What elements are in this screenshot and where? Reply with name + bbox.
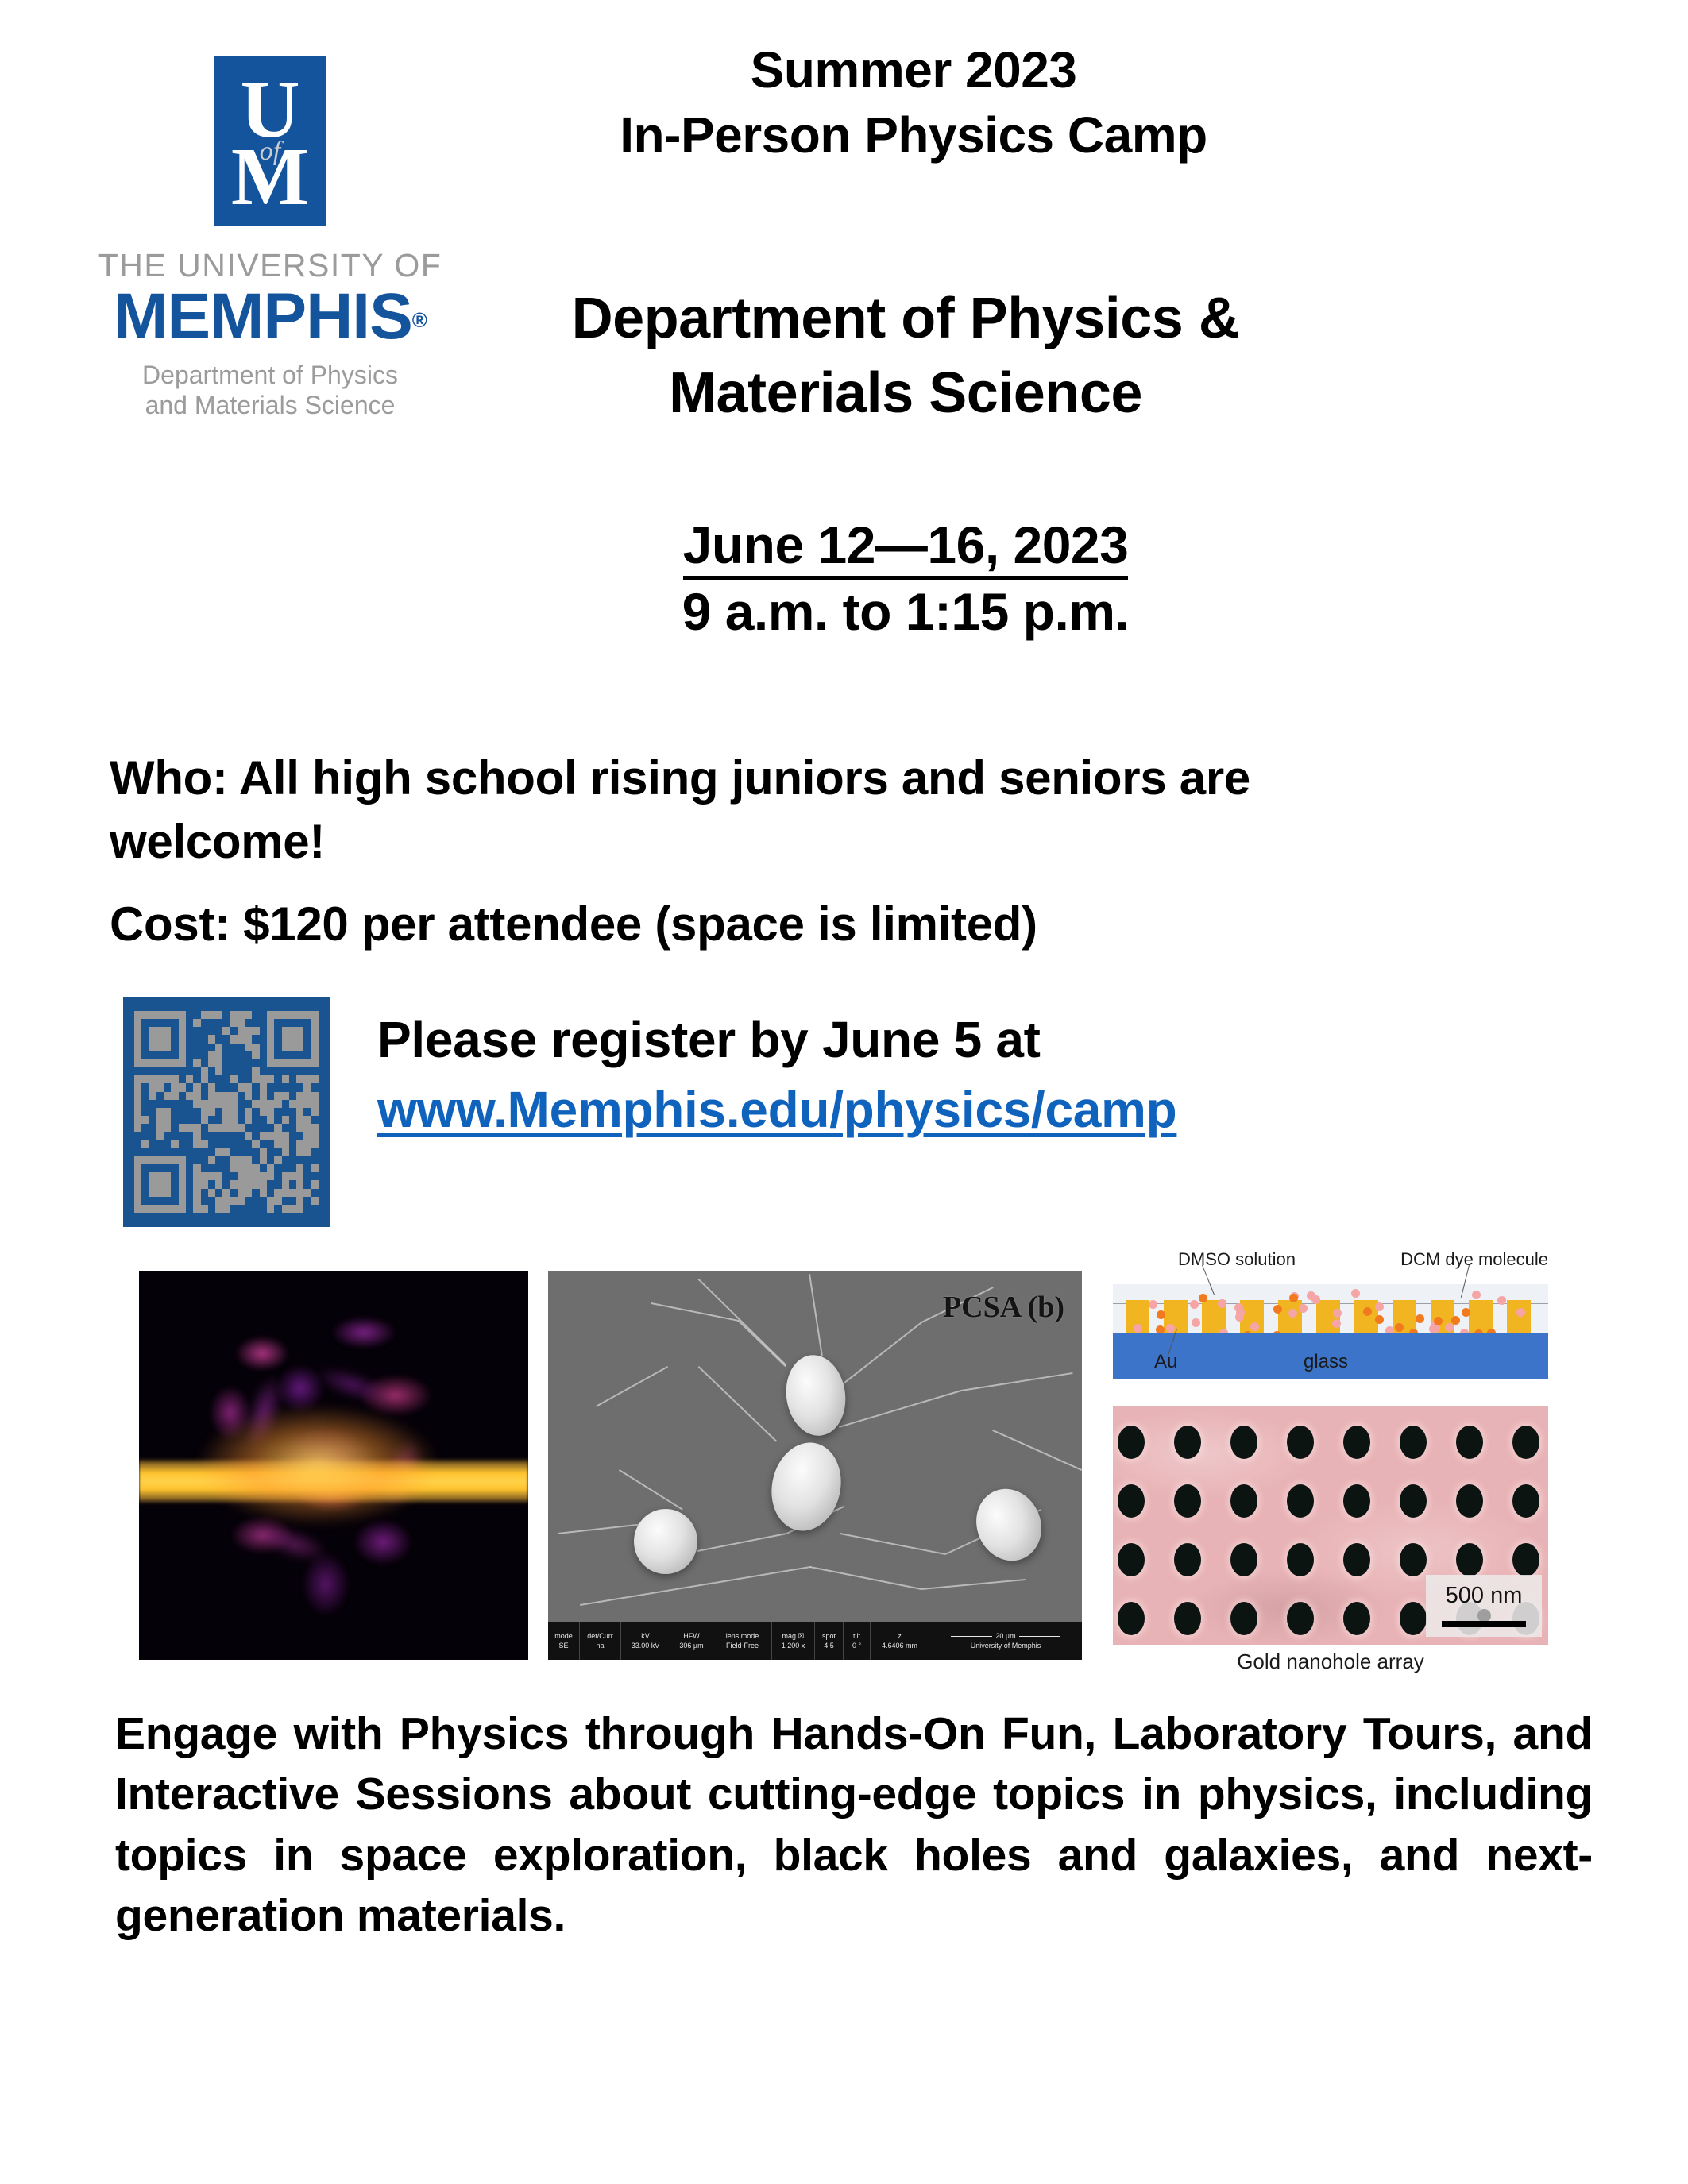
sem-info-value: 0 ° <box>852 1641 861 1650</box>
qr-module <box>260 1172 267 1180</box>
qr-module <box>260 1092 267 1100</box>
qr-module <box>282 1108 289 1116</box>
registration-url-link[interactable]: www.Memphis.edu/physics/camp <box>377 1075 1176 1144</box>
qr-module <box>164 1083 171 1091</box>
qr-module <box>296 1116 303 1124</box>
qr-module <box>267 1172 274 1180</box>
qr-module <box>238 1189 245 1197</box>
qr-module <box>296 1011 303 1019</box>
qr-module <box>289 1124 296 1132</box>
qr-module <box>238 1172 245 1180</box>
qr-module <box>179 1083 186 1091</box>
qr-module <box>230 1011 238 1019</box>
qr-module <box>156 1180 164 1188</box>
qr-module <box>171 1156 178 1164</box>
qr-module <box>193 1180 200 1188</box>
qr-module <box>186 1011 193 1019</box>
qr-module <box>222 1156 230 1164</box>
qr-module <box>274 1189 281 1197</box>
qr-module <box>267 1044 274 1051</box>
qr-module <box>267 1148 274 1156</box>
nanohole <box>1400 1484 1427 1518</box>
qr-module <box>282 1100 289 1108</box>
nanohole <box>1343 1602 1370 1635</box>
qr-module <box>141 1189 149 1197</box>
sem-info-value: 4.5 <box>824 1641 834 1650</box>
qr-module <box>215 1075 222 1083</box>
nanohole <box>1230 1602 1257 1635</box>
sem-info-header: mag ☒ <box>782 1631 804 1641</box>
qr-module <box>252 1124 259 1132</box>
qr-module <box>156 1108 164 1116</box>
gold-block <box>1507 1300 1531 1335</box>
qr-module <box>208 1011 215 1019</box>
qr-module <box>260 1035 267 1043</box>
qr-module <box>245 1092 252 1100</box>
qr-module <box>267 1100 274 1108</box>
qr-module <box>156 1172 164 1180</box>
date-range: June 12—16, 2023 <box>445 512 1366 579</box>
dye-molecule-dot <box>1472 1291 1481 1299</box>
qr-module <box>179 1197 186 1205</box>
qr-module <box>289 1189 296 1197</box>
qr-module <box>208 1148 215 1156</box>
qr-module <box>171 1092 178 1100</box>
nanohole <box>1118 1484 1145 1518</box>
qr-module <box>149 1205 156 1213</box>
qr-module <box>238 1044 245 1051</box>
qr-module <box>208 1156 215 1164</box>
qr-module <box>186 1075 193 1083</box>
qr-module <box>193 1205 200 1213</box>
qr-module <box>260 1083 267 1091</box>
sem-neuron-image: PCSA (b) modeSEdet/CurrnakV33.00 kVHFW30… <box>548 1271 1082 1660</box>
qr-module <box>296 1092 303 1100</box>
qr-module <box>230 1075 238 1083</box>
logo-department-line: Department of Physics and Materials Scie… <box>75 361 465 421</box>
qr-module <box>201 1124 208 1132</box>
qr-module <box>274 1140 281 1148</box>
qr-module <box>274 1148 281 1156</box>
qr-module <box>230 1124 238 1132</box>
qr-module <box>164 1059 171 1067</box>
qr-module <box>282 1092 289 1100</box>
qr-module <box>274 1124 281 1132</box>
qr-module <box>289 1027 296 1035</box>
dye-molecule-dot <box>1363 1307 1372 1316</box>
qr-module <box>171 1148 178 1156</box>
qr-module <box>149 1044 156 1051</box>
sem-info-bar: modeSEdet/CurrnakV33.00 kVHFW306 µmlens … <box>548 1622 1082 1660</box>
qr-module <box>267 1059 274 1067</box>
nanohole-caption: Gold nanohole array <box>1108 1650 1553 1674</box>
qr-module <box>193 1108 200 1116</box>
qr-module <box>201 1035 208 1043</box>
qr-module <box>230 1044 238 1051</box>
qr-module <box>296 1027 303 1035</box>
sem-scale-bar: 20 µm <box>951 1632 1060 1640</box>
qr-module <box>141 1035 149 1043</box>
nanohole <box>1512 1543 1539 1576</box>
qr-module <box>193 1124 200 1132</box>
qr-module <box>311 1116 319 1124</box>
qr-module <box>208 1172 215 1180</box>
nanohole <box>1400 1543 1427 1576</box>
qr-module <box>193 1172 200 1180</box>
nanohole <box>1230 1543 1257 1576</box>
department-line-1: Department of Physics & <box>445 282 1366 357</box>
qr-module <box>252 1019 259 1027</box>
qr-module <box>282 1027 289 1035</box>
qr-module <box>179 1108 186 1116</box>
dye-molecule-dot <box>1157 1310 1165 1319</box>
qr-module <box>222 1148 230 1156</box>
qr-module <box>156 1051 164 1059</box>
qr-module <box>245 1051 252 1059</box>
qr-module <box>289 1164 296 1172</box>
qr-module <box>141 1051 149 1059</box>
qr-module <box>186 1116 193 1124</box>
qr-module <box>282 1172 289 1180</box>
qr-module <box>171 1075 178 1083</box>
dye-molecule-dot <box>1199 1294 1207 1302</box>
qr-module <box>201 1059 208 1067</box>
qr-module <box>289 1035 296 1043</box>
qr-module <box>156 1148 164 1156</box>
qr-module <box>238 1180 245 1188</box>
qr-module <box>164 1116 171 1124</box>
qr-module <box>215 1189 222 1197</box>
qr-module <box>311 1100 319 1108</box>
qr-module <box>296 1205 303 1213</box>
qr-module <box>267 1164 274 1172</box>
qr-module <box>156 1083 164 1091</box>
qr-module <box>215 1035 222 1043</box>
dye-molecule-dot <box>1166 1324 1175 1333</box>
qr-module <box>141 1140 149 1148</box>
qr-module <box>215 1156 222 1164</box>
qr-module <box>179 1100 186 1108</box>
qr-module <box>215 1092 222 1100</box>
qr-module <box>156 1189 164 1197</box>
qr-module <box>171 1197 178 1205</box>
qr-module <box>252 1092 259 1100</box>
qr-module <box>267 1019 274 1027</box>
qr-module <box>179 1116 186 1124</box>
qr-module <box>230 1205 238 1213</box>
sem-info-header: lens mode <box>726 1631 759 1641</box>
qr-module <box>141 1124 149 1132</box>
qr-module <box>171 1100 178 1108</box>
qr-module <box>222 1051 230 1059</box>
qr-code-icon[interactable] <box>123 997 330 1227</box>
qr-module <box>267 1132 274 1140</box>
qr-module <box>141 1059 149 1067</box>
qr-module <box>296 1067 303 1075</box>
dye-molecule-dot <box>1462 1308 1470 1317</box>
time-range: 9 a.m. to 1:15 p.m. <box>445 579 1366 646</box>
sem-info-cell: lens modeField-Free <box>713 1622 772 1660</box>
qr-module <box>193 1027 200 1035</box>
qr-module <box>260 1164 267 1172</box>
qr-module <box>311 1083 319 1091</box>
nanohole <box>1174 1543 1201 1576</box>
sem-credit-label: University of Memphis <box>971 1642 1041 1650</box>
qr-module <box>171 1035 178 1043</box>
qr-module <box>245 1189 252 1197</box>
qr-module <box>141 1148 149 1156</box>
qr-module <box>260 1067 267 1075</box>
qr-module <box>156 1197 164 1205</box>
qr-module <box>252 1100 259 1108</box>
qr-module <box>215 1059 222 1067</box>
qr-module <box>260 1156 267 1164</box>
qr-module <box>230 1059 238 1067</box>
qr-module <box>208 1140 215 1148</box>
qr-module <box>245 1011 252 1019</box>
uofm-logo-mark: U of M <box>214 56 326 226</box>
qr-module <box>267 1197 274 1205</box>
qr-module <box>171 1067 178 1075</box>
qr-module <box>303 1083 311 1091</box>
qr-module <box>186 1027 193 1035</box>
qr-module <box>311 1132 319 1140</box>
nanohole <box>1456 1484 1483 1518</box>
dye-molecule-dot <box>1451 1316 1460 1325</box>
qr-module <box>134 1067 141 1075</box>
qr-module <box>282 1067 289 1075</box>
dye-molecule-dot <box>1149 1300 1157 1309</box>
qr-module <box>156 1140 164 1148</box>
qr-module <box>149 1180 156 1188</box>
qr-module <box>208 1067 215 1075</box>
qr-module <box>222 1205 230 1213</box>
qr-module <box>201 1067 208 1075</box>
qr-module <box>141 1164 149 1172</box>
qr-module <box>222 1180 230 1188</box>
qr-module <box>245 1148 252 1156</box>
label-dmso-solution: DMSO solution <box>1178 1249 1296 1270</box>
qr-module <box>179 1172 186 1180</box>
qr-module <box>245 1059 252 1067</box>
fluorescence-microscopy-image <box>139 1271 528 1660</box>
qr-module <box>230 1051 238 1059</box>
qr-module <box>149 1132 156 1140</box>
qr-module <box>171 1180 178 1188</box>
sem-scale-rule-right <box>1019 1636 1060 1637</box>
qr-module <box>179 1156 186 1164</box>
qr-module <box>274 1092 281 1100</box>
qr-module <box>282 1011 289 1019</box>
qr-module <box>245 1116 252 1124</box>
qr-module <box>282 1156 289 1164</box>
qr-module <box>274 1205 281 1213</box>
qr-module <box>222 1059 230 1067</box>
qr-module <box>141 1156 149 1164</box>
qr-module <box>311 1148 319 1156</box>
qr-module <box>186 1092 193 1100</box>
qr-module <box>156 1116 164 1124</box>
qr-module <box>149 1116 156 1124</box>
qr-module <box>215 1164 222 1172</box>
scale-bar-label: 500 nm <box>1446 1584 1523 1607</box>
sem-info-header: spot <box>822 1631 836 1641</box>
scale-bar-rule <box>1442 1621 1526 1627</box>
qr-module <box>156 1027 164 1035</box>
qr-module <box>311 1067 319 1075</box>
qr-module <box>208 1124 215 1132</box>
qr-module <box>252 1075 259 1083</box>
qr-module <box>274 1059 281 1067</box>
qr-module <box>303 1189 311 1197</box>
sem-info-cell: tilt0 ° <box>844 1622 871 1660</box>
qr-module <box>134 1132 141 1140</box>
qr-module <box>215 1197 222 1205</box>
qr-module <box>171 1205 178 1213</box>
qr-module <box>303 1092 311 1100</box>
qr-module <box>208 1019 215 1027</box>
qr-module <box>149 1027 156 1035</box>
qr-module <box>164 1156 171 1164</box>
qr-module <box>245 1019 252 1027</box>
qr-module <box>260 1011 267 1019</box>
qr-module <box>179 1067 186 1075</box>
qr-module <box>208 1108 215 1116</box>
qr-module <box>289 1100 296 1108</box>
qr-module <box>267 1083 274 1091</box>
qr-module <box>149 1035 156 1043</box>
dye-molecule-dot <box>1497 1296 1506 1305</box>
qr-module <box>245 1035 252 1043</box>
qr-module <box>282 1044 289 1051</box>
sem-info-value: 306 µm <box>679 1641 703 1650</box>
qr-code-modules <box>134 1011 319 1213</box>
qr-module <box>164 1124 171 1132</box>
qr-module <box>267 1011 274 1019</box>
qr-module <box>238 1100 245 1108</box>
nanohole <box>1230 1426 1257 1459</box>
qr-module <box>201 1148 208 1156</box>
qr-module <box>134 1197 141 1205</box>
dye-molecule-dot <box>1288 1309 1297 1318</box>
qr-module <box>274 1172 281 1180</box>
qr-module <box>171 1116 178 1124</box>
qr-module <box>222 1100 230 1108</box>
logo-university-line: THE UNIVERSITY OF <box>75 249 465 283</box>
qr-module <box>179 1140 186 1148</box>
qr-module <box>201 1100 208 1108</box>
qr-module <box>215 1116 222 1124</box>
qr-module <box>208 1180 215 1188</box>
qr-module <box>193 1075 200 1083</box>
qr-module <box>149 1051 156 1059</box>
dye-molecule-dot <box>1218 1299 1226 1308</box>
gold-nanohole-array-figure: DMSO solution DCM dye molecule Au glass … <box>1108 1243 1553 1688</box>
qr-module <box>311 1205 319 1213</box>
qr-module <box>282 1205 289 1213</box>
qr-module <box>186 1100 193 1108</box>
sem-info-cell: det/Currna <box>580 1622 621 1660</box>
qr-module <box>282 1075 289 1083</box>
qr-module <box>260 1019 267 1027</box>
qr-module <box>164 1172 171 1180</box>
nanohole <box>1287 1426 1314 1459</box>
qr-module <box>260 1116 267 1124</box>
qr-module <box>222 1019 230 1027</box>
qr-module <box>252 1108 259 1116</box>
dye-molecule-dot <box>1299 1304 1308 1313</box>
qr-module <box>215 1180 222 1188</box>
qr-module <box>208 1132 215 1140</box>
qr-module <box>164 1164 171 1172</box>
qr-module <box>141 1108 149 1116</box>
nanohole <box>1230 1484 1257 1518</box>
sem-info-cell: mag ☒1 200 x <box>772 1622 815 1660</box>
qr-module <box>230 1100 238 1108</box>
qr-module <box>141 1019 149 1027</box>
qr-module <box>149 1197 156 1205</box>
qr-module <box>252 1180 259 1188</box>
qr-module <box>267 1180 274 1188</box>
qr-module <box>238 1035 245 1043</box>
qr-module <box>179 1092 186 1100</box>
sem-info-header: HFW <box>683 1631 700 1641</box>
sem-info-cell: kV33.00 kV <box>621 1622 670 1660</box>
qr-module <box>134 1189 141 1197</box>
qr-module <box>134 1011 141 1019</box>
registration-block: Please register by June 5 at www.Memphis… <box>123 997 1553 1243</box>
qr-module <box>193 1164 200 1172</box>
qr-module <box>141 1205 149 1213</box>
qr-module <box>164 1189 171 1197</box>
qr-module <box>208 1100 215 1108</box>
qr-module <box>274 1019 281 1027</box>
qr-module <box>164 1011 171 1019</box>
qr-module <box>289 1180 296 1188</box>
sem-info-header: mode <box>554 1631 573 1641</box>
qr-module <box>238 1092 245 1100</box>
qr-module <box>201 1019 208 1027</box>
nanohole <box>1174 1426 1201 1459</box>
qr-module <box>303 1148 311 1156</box>
logo-memphis-text: MEMPHIS <box>114 280 412 353</box>
qr-module <box>179 1205 186 1213</box>
qr-module <box>252 1197 259 1205</box>
qr-module <box>267 1075 274 1083</box>
qr-module <box>238 1019 245 1027</box>
qr-module <box>149 1092 156 1100</box>
qr-module <box>222 1067 230 1075</box>
qr-module <box>296 1172 303 1180</box>
qr-module <box>238 1027 245 1035</box>
qr-module <box>201 1164 208 1172</box>
qr-module <box>274 1011 281 1019</box>
qr-module <box>179 1051 186 1059</box>
qr-module <box>171 1124 178 1132</box>
qr-module <box>267 1051 274 1059</box>
qr-module <box>303 1059 311 1067</box>
qr-module <box>171 1027 178 1035</box>
qr-module <box>252 1083 259 1091</box>
qr-module <box>201 1051 208 1059</box>
qr-module <box>164 1108 171 1116</box>
qr-module <box>296 1164 303 1172</box>
qr-module <box>238 1124 245 1132</box>
qr-module <box>282 1180 289 1188</box>
qr-module <box>230 1035 238 1043</box>
qr-module <box>311 1164 319 1172</box>
qr-module <box>303 1116 311 1124</box>
